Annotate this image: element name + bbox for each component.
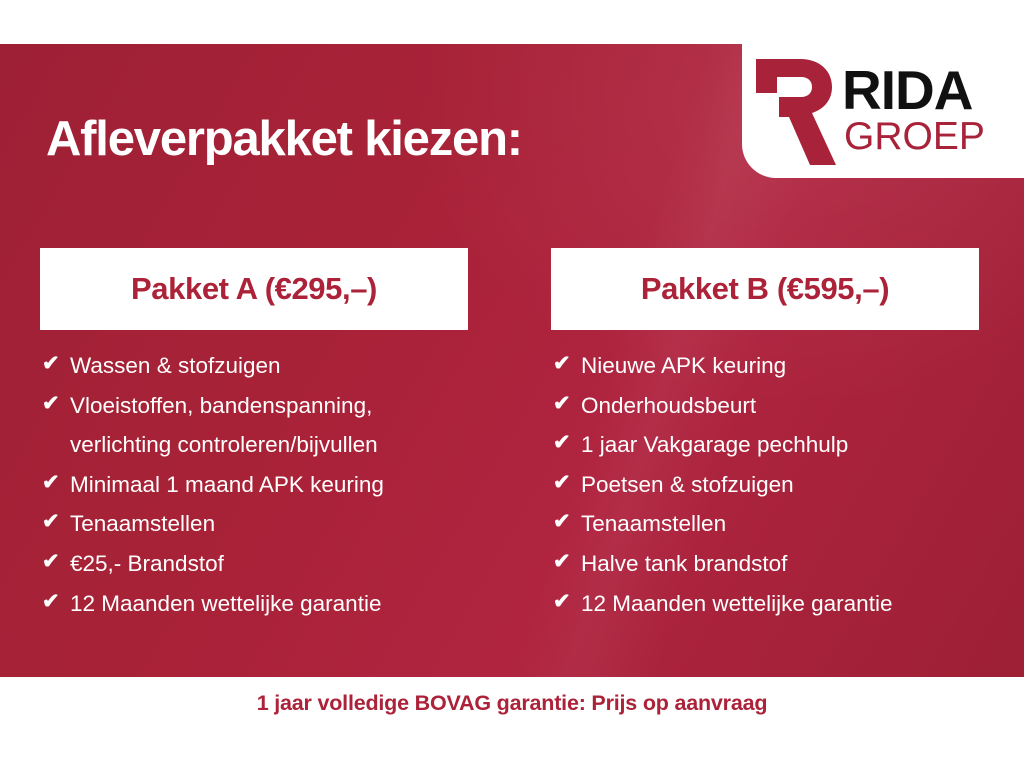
list-item: ✔ €25,- Brandstof [42,544,468,584]
check-icon: ✔ [42,544,70,581]
feature-list-a: ✔ Wassen & stofzuigen ✔ Vloeistoffen, ba… [40,330,468,623]
list-item: ✔ Nieuwe APK keuring [553,346,979,386]
check-icon: ✔ [553,425,581,462]
brand-name-secondary: GROEP [844,119,985,155]
package-title-b: Pakket B (€595,–) [641,271,889,307]
list-item: ✔ Tenaamstellen [42,504,468,544]
check-icon: ✔ [42,386,70,423]
check-icon: ✔ [42,504,70,541]
feature-text: Wassen & stofzuigen [70,346,468,386]
list-item: ✔ Tenaamstellen [553,504,979,544]
list-item: ✔ Wassen & stofzuigen [42,346,468,386]
check-icon: ✔ [553,504,581,541]
check-icon: ✔ [42,346,70,383]
page-title: Afleverpakket kiezen: [46,111,522,167]
check-icon: ✔ [553,544,581,581]
package-header-a: Pakket A (€295,–) [40,248,468,330]
feature-text: Onderhoudsbeurt [581,386,979,426]
list-item: ✔ Minimaal 1 maand APK keuring [42,465,468,505]
list-item: ✔ Vloeistoffen, bandenspanning, verlicht… [42,386,468,465]
feature-text: Nieuwe APK keuring [581,346,979,386]
feature-list-b: ✔ Nieuwe APK keuring ✔ Onderhoudsbeurt ✔… [551,330,979,623]
feature-text: Poetsen & stofzuigen [581,465,979,505]
feature-text: 12 Maanden wettelijke garantie [581,584,979,624]
list-item: ✔ Halve tank brandstof [553,544,979,584]
footer-text: 1 jaar volledige BOVAG garantie: Prijs o… [257,691,768,716]
package-header-b: Pakket B (€595,–) [551,248,979,330]
list-item: ✔ Poetsen & stofzuigen [553,465,979,505]
slide-root: RIDA GROEP Afleverpakket kiezen: Pakket … [0,0,1024,768]
package-column-a: Pakket A (€295,–) ✔ Wassen & stofzuigen … [40,248,468,623]
check-icon: ✔ [42,584,70,621]
list-item: ✔ 1 jaar Vakgarage pechhulp [553,425,979,465]
feature-text: Vloeistoffen, bandenspanning, verlichtin… [70,386,468,465]
feature-text: 1 jaar Vakgarage pechhulp [581,425,979,465]
footer-band: 1 jaar volledige BOVAG garantie: Prijs o… [0,677,1024,768]
feature-text: 12 Maanden wettelijke garantie [70,584,468,624]
list-item: ✔ 12 Maanden wettelijke garantie [42,584,468,624]
brand-logo-panel: RIDA GROEP [742,44,1024,178]
check-icon: ✔ [553,465,581,502]
check-icon: ✔ [553,386,581,423]
package-column-b: Pakket B (€595,–) ✔ Nieuwe APK keuring ✔… [551,248,979,623]
list-item: ✔ 12 Maanden wettelijke garantie [553,584,979,624]
package-title-a: Pakket A (€295,–) [131,271,377,307]
list-item: ✔ Onderhoudsbeurt [553,386,979,426]
rida-r-monogram-icon [750,57,836,167]
check-icon: ✔ [42,465,70,502]
feature-text: Tenaamstellen [70,504,468,544]
feature-text: €25,- Brandstof [70,544,468,584]
feature-text: Tenaamstellen [581,504,979,544]
feature-text: Halve tank brandstof [581,544,979,584]
packages-container: Pakket A (€295,–) ✔ Wassen & stofzuigen … [0,248,1024,623]
feature-text: Minimaal 1 maand APK keuring [70,465,468,505]
brand-logo-wordmark: RIDA GROEP [842,65,985,154]
check-icon: ✔ [553,346,581,383]
brand-name-primary: RIDA [842,65,985,116]
check-icon: ✔ [553,584,581,621]
